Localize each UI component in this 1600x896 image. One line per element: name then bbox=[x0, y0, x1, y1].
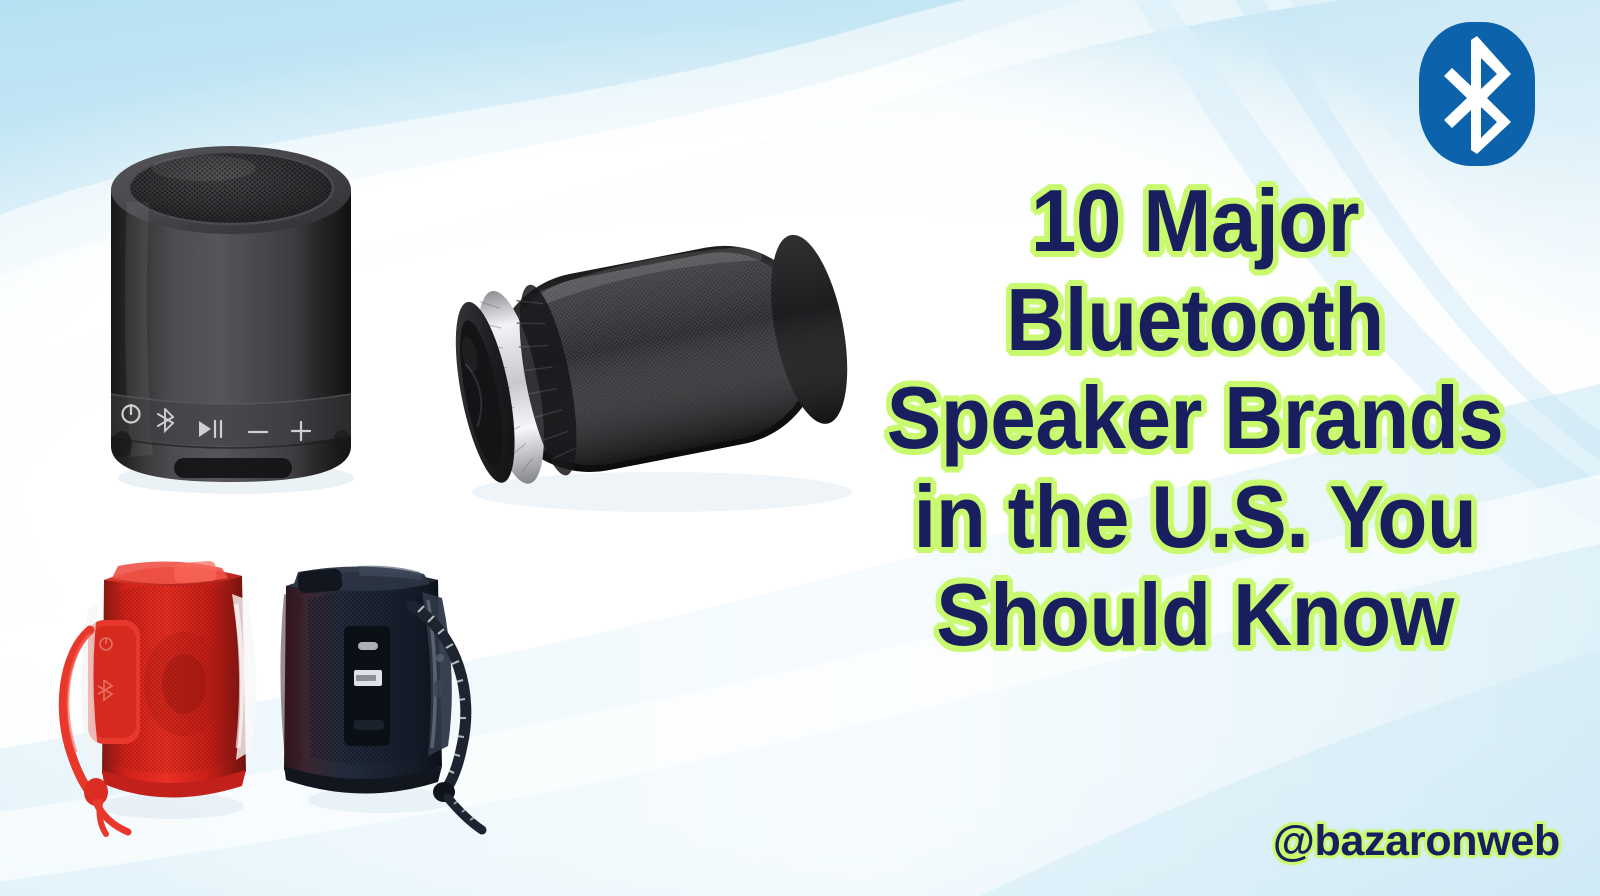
bluetooth-badge bbox=[1419, 22, 1535, 166]
headline-line-1: 10 Major bbox=[828, 172, 1563, 271]
headline-line-5: Should Know bbox=[828, 566, 1563, 665]
headline-line-4: in the U.S. You bbox=[828, 468, 1563, 567]
navy-rugged-speaker-image bbox=[262, 530, 512, 830]
bluetooth-icon bbox=[1419, 22, 1535, 166]
black-cylinder-speaker-image bbox=[86, 126, 376, 506]
headline-line-3: Speaker Brands bbox=[828, 369, 1563, 468]
usb-c-port bbox=[358, 642, 378, 650]
promo-banner: 10 Major Bluetooth Speaker Brands in the… bbox=[0, 0, 1600, 896]
social-handle-watermark: @bazaronweb bbox=[1273, 817, 1560, 866]
headline-line-2: Bluetooth bbox=[828, 271, 1563, 370]
red-rugged-speaker-image bbox=[46, 534, 278, 834]
headline: 10 Major Bluetooth Speaker Brands in the… bbox=[800, 172, 1590, 665]
